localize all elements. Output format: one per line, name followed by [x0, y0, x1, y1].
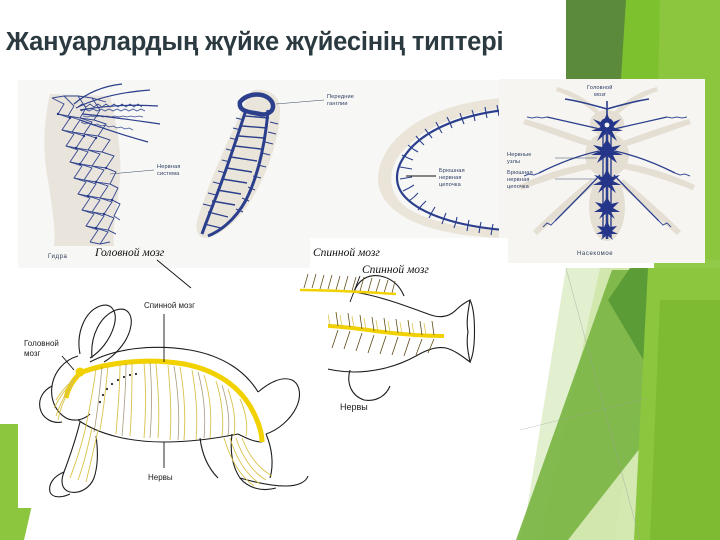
- deco-bottom-mid-2: [650, 300, 720, 540]
- slide-root: Жануарлардың жүйке жүйесінің типтері: [0, 0, 720, 540]
- label-overlay-spinal: Спинной мозг: [313, 246, 380, 259]
- deco-bottom-mid-1: [516, 270, 664, 540]
- rabbit-brain-node: [76, 368, 85, 377]
- label-fish-nerves: Нервы: [340, 402, 368, 412]
- caption-insect: Насекомое: [577, 251, 613, 257]
- label-insect-brain: Головной: [587, 84, 613, 91]
- svg-text:мозг: мозг: [24, 349, 41, 358]
- label-overlay-brain: Головной мозг: [95, 246, 165, 259]
- deco-bottom-dark-1: [608, 268, 668, 388]
- svg-text:ганглии: ганглии: [327, 101, 348, 107]
- deco-bottom-light-1: [540, 268, 666, 540]
- deco-line-1: [566, 268, 640, 540]
- caption-hydra: Гидра: [48, 254, 68, 260]
- label-hydra-nervous-system: Нервная: [157, 164, 181, 170]
- svg-text:система: система: [157, 171, 180, 177]
- svg-text:узлы: узлы: [507, 159, 520, 165]
- panel-insect-nervous-system: Головной мозг Нервные узлы Брюшная нервн…: [499, 79, 705, 263]
- label-insect-ganglia: Нервные: [507, 152, 532, 158]
- label-insect-ventral-cord: Брюшная: [507, 170, 533, 176]
- svg-text:нервная: нервная: [507, 177, 530, 183]
- label-rabbit-nerves: Нервы: [148, 473, 173, 482]
- deco-line-2: [520, 398, 648, 430]
- deco-bottom-bright-2: [634, 268, 720, 540]
- label-rabbit-brain: Головной: [24, 339, 59, 348]
- slide-title: Жануарлардың жүйке жүйесінің типтері: [6, 28, 606, 56]
- svg-text:мозг: мозг: [594, 92, 606, 98]
- deco-bottom-pale-1: [522, 268, 660, 540]
- label-flatworm-anterior-ganglia: Передние: [327, 94, 354, 100]
- label-rabbit-spinal-cord: Спинной мозг: [144, 301, 195, 310]
- panel-mammal-nervous-system: Головной мозг Спинной мозг Нервы: [18, 286, 328, 508]
- overlay-seam-labels: Головной мозг Спинной мозг: [95, 238, 425, 298]
- svg-text:цепочка: цепочка: [507, 184, 530, 190]
- svg-text:цепочка: цепочка: [439, 182, 462, 188]
- svg-text:нервная: нервная: [439, 175, 462, 181]
- label-worm-ventral-cord: Брюшная: [439, 168, 465, 174]
